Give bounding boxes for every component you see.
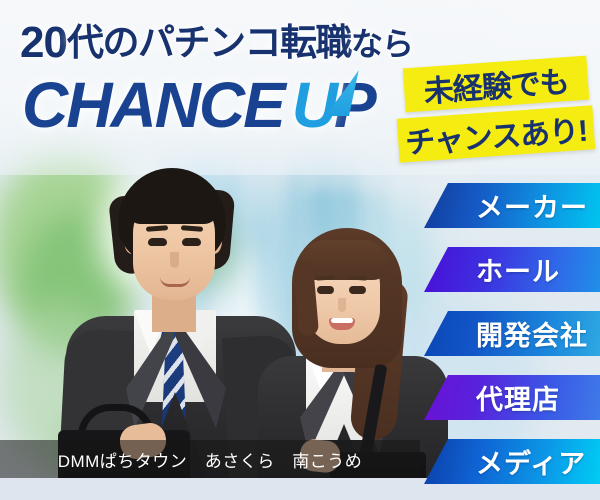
category-label-maker: メーカー [476, 186, 588, 225]
category-bar-media[interactable]: メディア [424, 439, 600, 484]
female-eye-left [317, 286, 334, 294]
male-hair-fringe [129, 186, 219, 224]
category-label-agency: 代理店 [476, 378, 560, 417]
male-nose [170, 252, 179, 268]
headline-tail-text: なら [351, 26, 413, 62]
caption-text: DMMぱちタウン あさくら 南こうめ [58, 447, 363, 472]
caption-band: DMMぱちタウン あさくら 南こうめ [0, 440, 420, 478]
female-nose [338, 298, 346, 312]
female-eye-right [349, 286, 366, 294]
category-bar-maker[interactable]: メーカー [424, 183, 600, 228]
recruitment-banner-ad[interactable]: 20代のパチンコ転職なら CHANCEUP 未経験でも チャンスあり! メーカー… [0, 0, 600, 500]
headline-main-text: 代のパチンコ転職 [67, 22, 351, 63]
male-eye-left [148, 238, 167, 246]
category-bar-hall[interactable]: ホール [424, 247, 600, 292]
headline-number: 20 [20, 18, 67, 67]
female-teeth [331, 318, 353, 323]
category-label-development-company: 開発会社 [476, 314, 588, 353]
category-bar-development-company[interactable]: 開発会社 [424, 311, 600, 356]
category-label-hall: ホール [476, 250, 560, 289]
category-label-media: メディア [476, 442, 586, 481]
logo-u-text: U [292, 69, 336, 141]
ad-headline: 20代のパチンコ転職なら [20, 12, 413, 68]
chance-up-logo: CHANCEUP [22, 68, 375, 142]
category-bar-agency[interactable]: 代理店 [424, 375, 600, 420]
male-eye-right [182, 238, 201, 246]
logo-chance-text: CHANCE [22, 69, 284, 141]
